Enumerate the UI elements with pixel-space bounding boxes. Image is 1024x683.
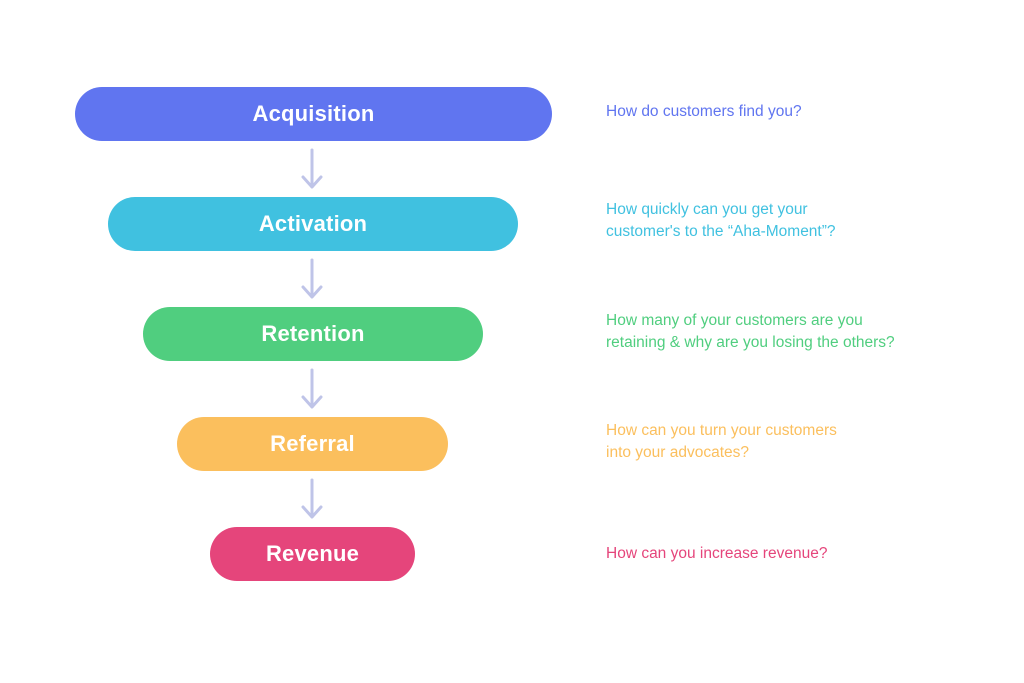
stage-description-revenue: How can you increase revenue? xyxy=(606,543,1006,565)
stage-description-line: How can you turn your customers xyxy=(606,420,1006,442)
stage-description-line: How can you increase revenue? xyxy=(606,543,1006,565)
stage-label-referral: Referral xyxy=(270,433,355,455)
stage-label-activation: Activation xyxy=(259,213,367,235)
stage-description-line: customer's to the “Aha-Moment”? xyxy=(606,221,1006,243)
stage-label-retention: Retention xyxy=(261,323,364,345)
connector-arrow-retention-to-referral xyxy=(297,368,327,414)
stage-bar-revenue[interactable]: Revenue xyxy=(210,527,415,581)
stage-label-acquisition: Acquisition xyxy=(253,103,375,125)
connector-arrow-referral-to-revenue xyxy=(297,478,327,524)
stage-description-line: retaining & why are you losing the other… xyxy=(606,332,1006,354)
stage-description-line: How many of your customers are you xyxy=(606,310,1006,332)
stage-description-referral: How can you turn your customersinto your… xyxy=(606,420,1006,464)
arrow-down-icon xyxy=(297,148,327,194)
stage-description-activation: How quickly can you get yourcustomer's t… xyxy=(606,199,1006,243)
stage-bar-retention[interactable]: Retention xyxy=(143,307,483,361)
stage-description-line: into your advocates? xyxy=(606,442,1006,464)
connector-arrow-acquisition-to-activation xyxy=(297,148,327,194)
stage-description-line: How quickly can you get your xyxy=(606,199,1006,221)
stage-bar-activation[interactable]: Activation xyxy=(108,197,518,251)
stage-bar-acquisition[interactable]: Acquisition xyxy=(75,87,552,141)
arrow-down-icon xyxy=(297,368,327,414)
funnel-diagram: AcquisitionHow do customers find you?Act… xyxy=(0,0,1024,683)
stage-label-revenue: Revenue xyxy=(266,543,359,565)
stage-description-retention: How many of your customers are youretain… xyxy=(606,310,1006,354)
arrow-down-icon xyxy=(297,258,327,304)
stage-bar-referral[interactable]: Referral xyxy=(177,417,448,471)
connector-arrow-activation-to-retention xyxy=(297,258,327,304)
arrow-down-icon xyxy=(297,478,327,524)
stage-description-line: How do customers find you? xyxy=(606,101,1006,123)
stage-description-acquisition: How do customers find you? xyxy=(606,101,1006,123)
